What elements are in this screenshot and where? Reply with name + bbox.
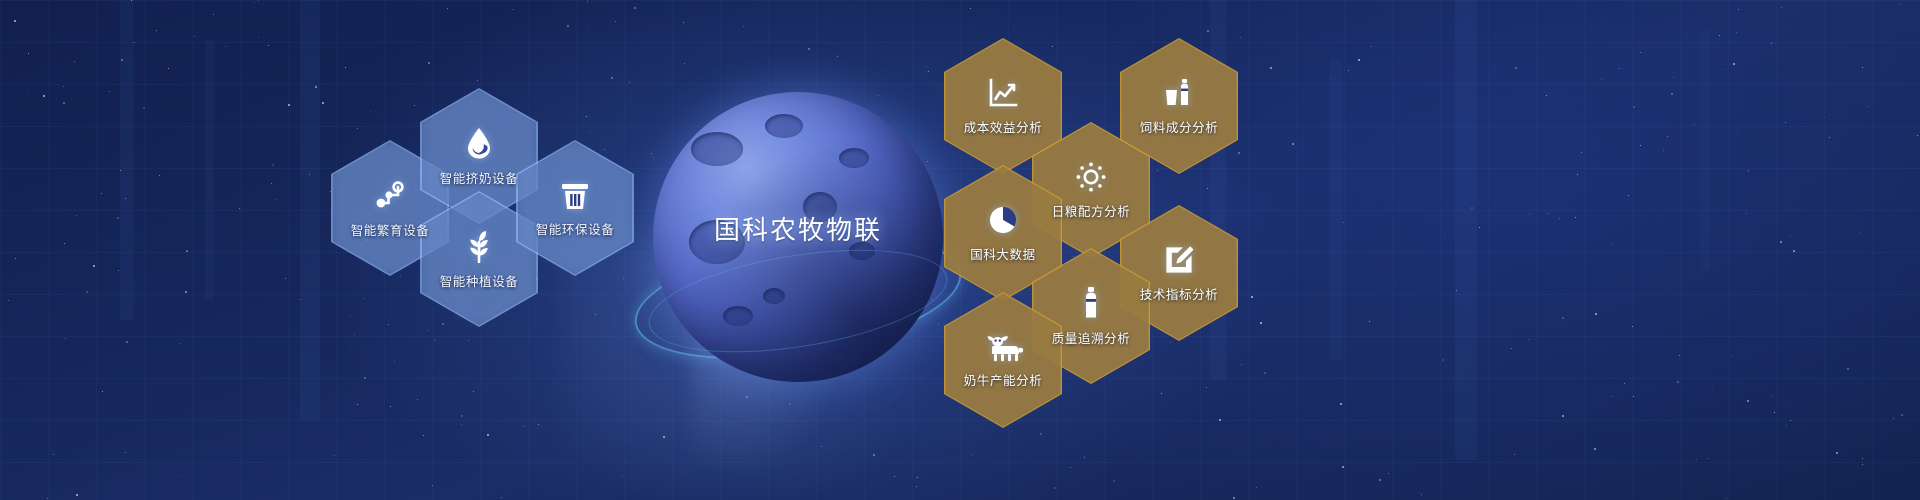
planet-group: 国科农牧物联 (633, 92, 963, 422)
pencil-edit-icon (1163, 244, 1195, 276)
hexagon-label: 日粮配方分析 (1052, 201, 1131, 220)
bottle-trace-icon (1078, 286, 1104, 320)
line-chart-icon (987, 77, 1019, 109)
hexagon-label: 智能繁育设备 (351, 220, 430, 239)
sun-formula-icon (1075, 161, 1107, 193)
hexagon-label: 智能种植设备 (440, 271, 519, 290)
hero-banner: 国科农牧物联 智能繁育设备 智能挤奶设备 (0, 0, 1920, 500)
hexagon-label: 技术指标分析 (1140, 284, 1219, 303)
hexagon-tile-cow-capacity[interactable]: 奶牛产能分析 (944, 292, 1062, 428)
hexagon-label: 饲料成分分析 (1140, 117, 1219, 136)
pie-chart-icon (987, 204, 1019, 236)
hexagon-tile-environment[interactable]: 智能环保设备 (516, 140, 634, 276)
recycle-bin-icon (559, 179, 591, 211)
plant-sprout-icon (463, 229, 495, 263)
hexagon-label: 质量追溯分析 (1052, 328, 1131, 347)
crater (691, 132, 743, 166)
milk-bottle-cup-icon (1162, 77, 1196, 109)
page-title: 国科农牧物联 (653, 210, 943, 247)
milk-droplet-icon (463, 126, 495, 160)
hexagon-label: 智能环保设备 (536, 219, 615, 238)
hexagon-label: 智能挤奶设备 (440, 168, 519, 187)
breeding-node-network-icon (373, 178, 407, 212)
crater (839, 148, 869, 168)
hexagon-label: 奶牛产能分析 (964, 370, 1043, 389)
crater (765, 114, 803, 138)
dairy-cow-icon (981, 332, 1025, 362)
hexagon-label: 国科大数据 (970, 244, 1036, 263)
hexagon-label: 成本效益分析 (964, 117, 1043, 136)
